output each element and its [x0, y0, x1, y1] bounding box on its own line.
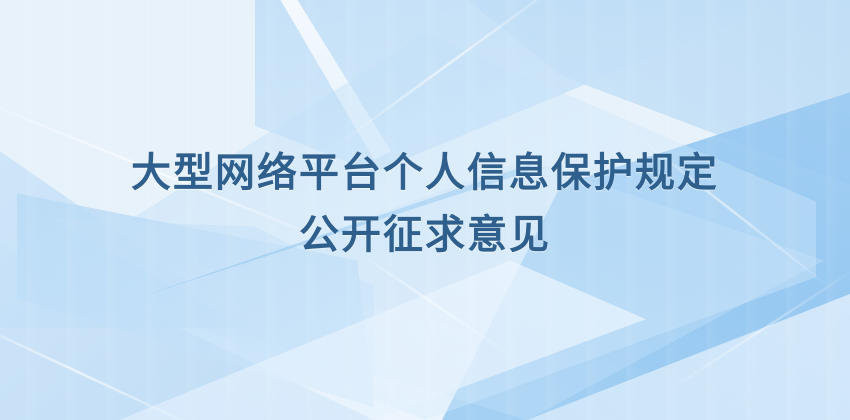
- banner-title-block: 大型网络平台个人信息保护规定 公开征求意见: [0, 142, 850, 266]
- highlight-streak-3: [328, 0, 572, 152]
- banner-title-line-1: 大型网络平台个人信息保护规定: [0, 142, 850, 204]
- highlight-streak-6: [659, 265, 850, 397]
- banner-graphic: 大型网络平台个人信息保护规定 公开征求意见: [0, 0, 850, 420]
- highlight-streak-2: [0, 309, 216, 420]
- banner-title-line-2: 公开征求意见: [0, 204, 850, 266]
